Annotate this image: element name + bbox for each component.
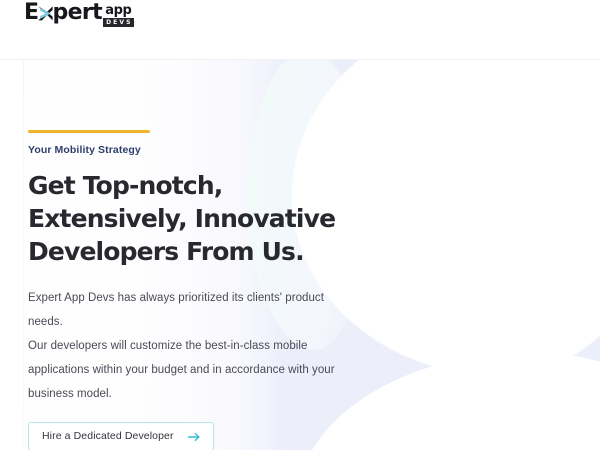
hero-eyebrow: Your Mobility Strategy [28, 144, 358, 156]
logo-app-text: app [103, 5, 133, 17]
page-title: Get Top-notch, Extensively, Innovative D… [28, 169, 358, 268]
hire-a-dedicated-developer-button[interactable]: Hire a Dedicated Developer [28, 422, 214, 450]
site-header: Epert app DEVS [0, 0, 600, 60]
hero-paragraph: Expert App Devs has always prioritized i… [28, 286, 358, 406]
cta-label: Hire a Dedicated Developer [42, 430, 174, 443]
content-edge-rule [23, 60, 24, 450]
logo-x-icon [38, 2, 53, 19]
hero-section: Your Mobility Strategy Get Top-notch, Ex… [0, 60, 600, 450]
arrow-right-icon [188, 432, 201, 442]
hero-content: Your Mobility Strategy Get Top-notch, Ex… [28, 130, 358, 450]
logo-wordmark: Epert app DEVS [24, 1, 134, 32]
logo-text-part1: E [24, 1, 38, 25]
logo-devs-badge: DEVS [103, 18, 133, 27]
page-root: Epert app DEVS Your Mobility Strategy Ge… [0, 0, 600, 450]
accent-rule [28, 130, 150, 133]
logo-app-devs-mark: app DEVS [103, 5, 133, 27]
site-logo[interactable]: Epert app DEVS [24, 1, 134, 27]
logo-text-part2: pert [52, 1, 102, 25]
